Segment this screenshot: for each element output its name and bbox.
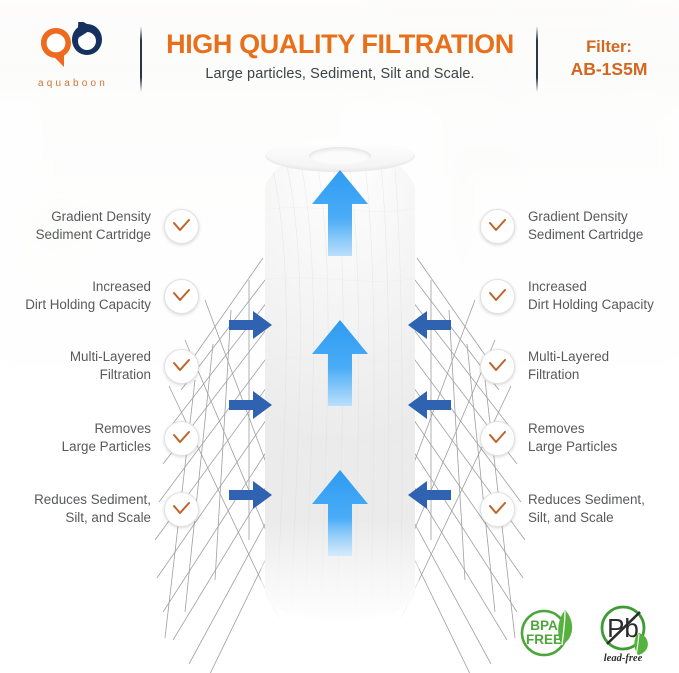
feature-line-1: Removes [94, 421, 151, 436]
feature-left-label-5: Reduces Sediment, Silt, and Scale [34, 491, 151, 526]
filter-cartridge-illustration [265, 140, 415, 640]
check-icon [164, 421, 199, 456]
feature-right-label-5: Reduces Sediment, Silt, and Scale [528, 491, 645, 526]
check-icon [480, 421, 515, 456]
feature-line-1: Gradient Density [51, 209, 151, 224]
feature-line-1: Increased [92, 279, 151, 294]
bpa-free-icon: BPA FREE [515, 600, 579, 664]
feature-right-removes-particles[interactable]: Removes Large Particles [480, 416, 617, 460]
feature-line-1: Reduces Sediment, [34, 492, 151, 507]
feature-line-1: Removes [528, 421, 585, 436]
check-icon [164, 492, 199, 527]
feature-right-label-1: Gradient Density Sediment Cartridge [528, 208, 643, 243]
check-icon [164, 209, 199, 244]
flow-arrow-in-left-2 [229, 390, 273, 420]
bpa-line-2: FREE [526, 632, 562, 647]
feature-left-reduces-sediment[interactable]: Reduces Sediment, Silt, and Scale [34, 487, 199, 531]
cartridge-bottom-fade [261, 520, 419, 640]
feature-line-2: Filtration [528, 367, 579, 382]
lead-free-caption: lead-free [604, 653, 643, 664]
page-subtitle: Large particles, Sediment, Silt and Scal… [150, 66, 530, 82]
feature-line-2: Silt, and Scale [528, 510, 614, 525]
flow-arrow-up-2 [310, 318, 370, 408]
header: aquaboon HIGH QUALITY FILTRATION Large p… [0, 0, 679, 118]
feature-left-gradient-density[interactable]: Gradient Density Sediment Cartridge [36, 204, 199, 248]
feature-left-dirt-holding[interactable]: Increased Dirt Holding Capacity [25, 274, 199, 318]
check-icon [480, 279, 515, 314]
bpa-line-1: BPA [530, 618, 558, 633]
feature-left-removes-particles[interactable]: Removes Large Particles [62, 416, 199, 460]
feature-line-2: Dirt Holding Capacity [25, 297, 151, 312]
flow-arrow-in-right-1 [407, 310, 451, 340]
filter-code-block: Filter: AB-1S5M [546, 36, 672, 82]
header-title-block: HIGH QUALITY FILTRATION Large particles,… [150, 30, 530, 82]
feature-right-dirt-holding[interactable]: Increased Dirt Holding Capacity [480, 274, 654, 318]
feature-right-multi-layered[interactable]: Multi-Layered Filtration [480, 344, 609, 388]
feature-left-label-2: Increased Dirt Holding Capacity [25, 278, 151, 313]
flow-arrow-up-1 [310, 168, 370, 258]
feature-line-1: Reduces Sediment, [528, 492, 645, 507]
cartridge-center-hole [309, 147, 371, 165]
feature-right-reduces-sediment[interactable]: Reduces Sediment, Silt, and Scale [480, 487, 645, 531]
certification-badges: BPA FREE Pb lead-free [515, 600, 665, 666]
flow-arrow-in-right-2 [407, 390, 451, 420]
feature-line-2: Silt, and Scale [65, 510, 151, 525]
feature-right-gradient-density[interactable]: Gradient Density Sediment Cartridge [480, 204, 643, 248]
check-icon [480, 209, 515, 244]
flow-arrow-in-left-3 [229, 480, 273, 510]
feature-right-label-3: Multi-Layered Filtration [528, 348, 609, 383]
lead-free-icon: Pb lead-free [593, 600, 663, 666]
feature-line-2: Sediment Cartridge [36, 227, 151, 242]
filter-code: AB-1S5M [546, 58, 672, 82]
feature-left-label-4: Removes Large Particles [62, 420, 151, 455]
filter-label: Filter: [546, 36, 672, 58]
feature-line-2: Dirt Holding Capacity [528, 297, 654, 312]
feature-left-multi-layered[interactable]: Multi-Layered Filtration [70, 344, 199, 388]
feature-right-label-2: Increased Dirt Holding Capacity [528, 278, 654, 313]
feature-line-1: Multi-Layered [528, 349, 609, 364]
check-icon [480, 492, 515, 527]
flow-arrow-in-left-1 [229, 310, 273, 340]
feature-line-2: Large Particles [62, 439, 151, 454]
header-divider-left [140, 26, 142, 92]
feature-line-2: Filtration [100, 367, 151, 382]
infographic-page: aquaboon HIGH QUALITY FILTRATION Large p… [0, 0, 679, 673]
feature-line-1: Multi-Layered [70, 349, 151, 364]
page-title: HIGH QUALITY FILTRATION [150, 30, 530, 59]
feature-line-1: Increased [528, 279, 587, 294]
feature-left-label-1: Gradient Density Sediment Cartridge [36, 208, 151, 243]
check-icon [480, 349, 515, 384]
feature-line-1: Gradient Density [528, 209, 628, 224]
feature-line-2: Sediment Cartridge [528, 227, 643, 242]
feature-line-2: Large Particles [528, 439, 617, 454]
feature-right-label-4: Removes Large Particles [528, 420, 617, 455]
check-icon [164, 279, 199, 314]
brand-wordmark: aquaboon [18, 78, 128, 89]
header-divider-right [536, 26, 538, 92]
brand-logo[interactable]: aquaboon [18, 22, 128, 89]
feature-left-label-3: Multi-Layered Filtration [70, 348, 151, 383]
check-icon [164, 349, 199, 384]
aquaboon-logo-icon [37, 22, 109, 74]
flow-arrow-in-right-3 [407, 480, 451, 510]
